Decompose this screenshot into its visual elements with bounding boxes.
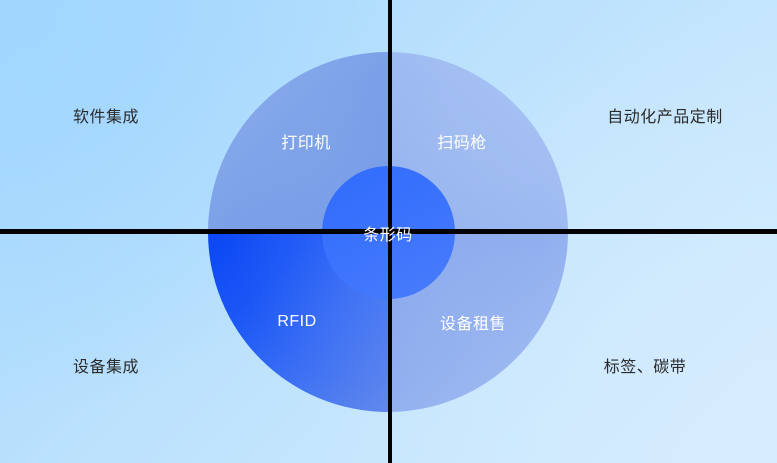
inner-label-printer: 打印机 <box>281 129 331 153</box>
inner-label-equipment-rental: 设备租售 <box>440 310 506 334</box>
outer-label-automation-customization: 自动化产品定制 <box>607 103 723 127</box>
core-label: 条形码 <box>363 221 413 245</box>
inner-label-barcode-scanner: 扫码枪 <box>437 129 487 153</box>
outer-label-software-integration: 软件集成 <box>73 103 139 127</box>
inner-label-rfid: RFID <box>277 313 316 331</box>
diagram-canvas: 条形码 打印机 扫码枪 RFID 设备租售 软件集成 自动化产品定制 设备集成 … <box>0 0 777 463</box>
outer-label-labels-ribbons: 标签、碳带 <box>604 353 687 377</box>
outer-label-equipment-integration: 设备集成 <box>73 353 139 377</box>
